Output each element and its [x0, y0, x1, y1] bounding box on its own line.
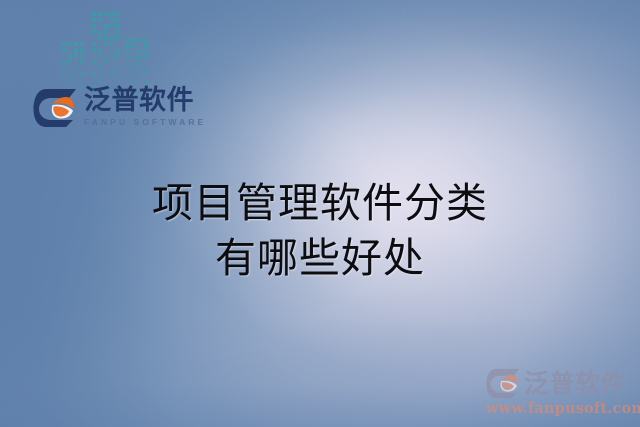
- brand-name-en: FANPU SOFTWARE: [84, 117, 206, 127]
- brand-logo: 泛普软件 FANPU SOFTWARE: [33, 86, 206, 128]
- promo-banner: 泛普软件 FANPU SOFTWARE 项目管理软件分类 有哪些好处 泛普软件 …: [0, 0, 640, 427]
- page-title-line-2: 有哪些好处: [0, 231, 640, 286]
- watermark-brand-name: 泛普软件: [524, 371, 626, 396]
- pixel-buildings-icon: [58, 4, 154, 98]
- fanpu-logo-icon: [486, 368, 520, 399]
- watermark-logo-row: 泛普软件: [486, 368, 632, 399]
- watermark-url: www.fanpusoft.com: [486, 400, 632, 417]
- brand-name-cn: 泛普软件: [84, 86, 206, 115]
- page-title: 项目管理软件分类 有哪些好处: [0, 176, 640, 285]
- fanpu-logo-icon: [33, 88, 77, 128]
- page-title-line-1: 项目管理软件分类: [0, 176, 640, 231]
- watermark: 泛普软件 www.fanpusoft.com: [486, 368, 632, 417]
